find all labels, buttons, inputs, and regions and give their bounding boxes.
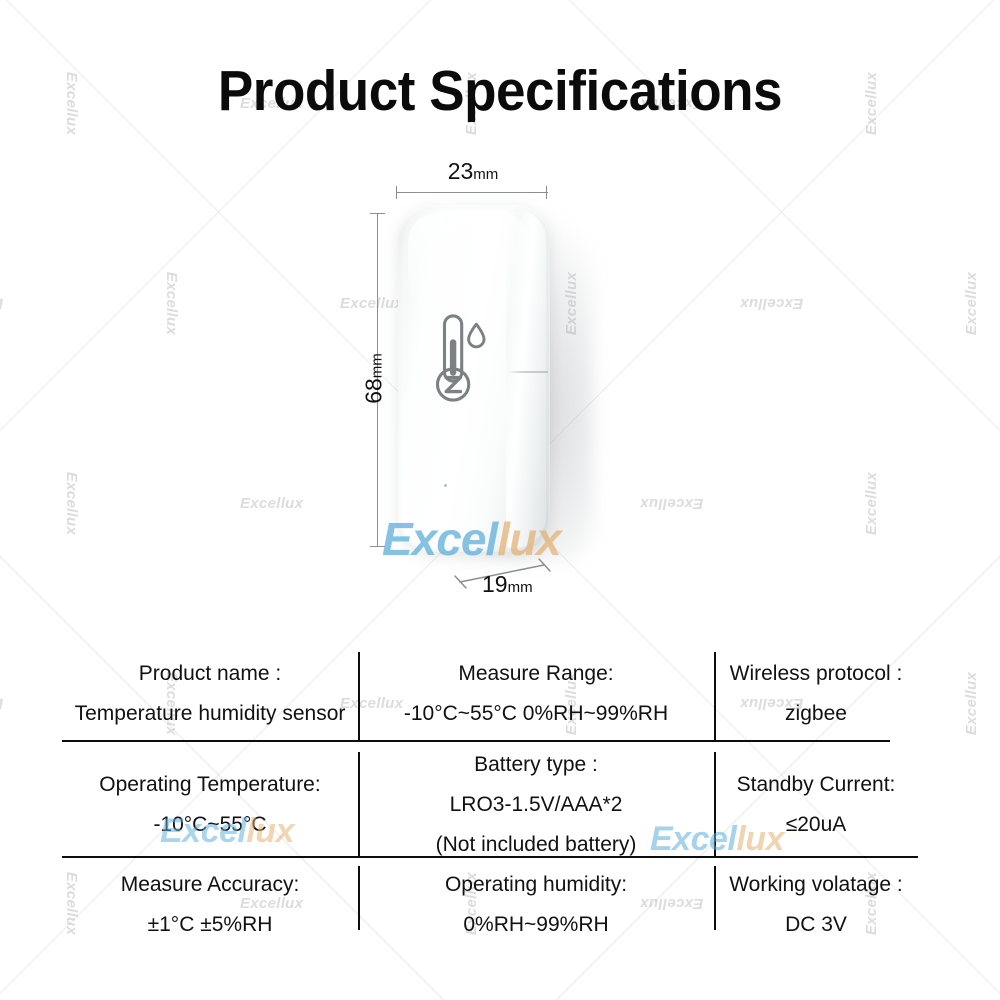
table-cell-value: DC 3V — [714, 905, 918, 945]
table-cell: Working volatage :DC 3V — [714, 865, 918, 945]
table-cell-label: Measure Accuracy: — [62, 865, 358, 905]
page-content: Product Specifications — [0, 0, 1000, 1000]
table-cell-label: Operating humidity: — [358, 865, 714, 905]
table-cell: Measure Accuracy:±1°C ±5%RH — [62, 865, 358, 945]
table-cell-label: Working volatage : — [714, 865, 918, 905]
table-row: Measure Accuracy:±1°C ±5%RHOperating hum… — [0, 0, 1000, 1000]
table-cell-value: ±1°C ±5%RH — [62, 905, 358, 945]
table-cell: Operating humidity:0%RH~99%RH — [358, 865, 714, 945]
table-cell-value: 0%RH~99%RH — [358, 905, 714, 945]
